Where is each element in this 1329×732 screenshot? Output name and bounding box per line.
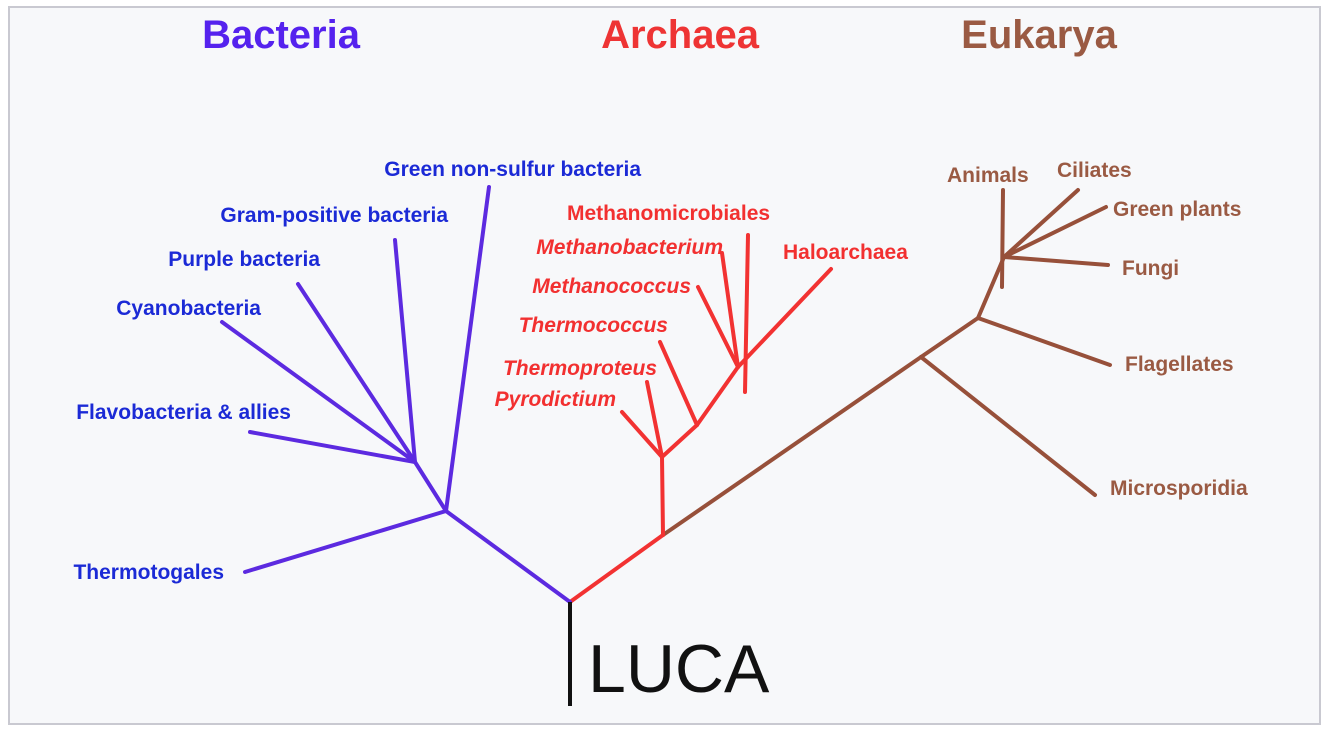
taxon-label-green-non-sulfur-bacteria: Green non-sulfur bacteria <box>384 158 641 181</box>
branch-haloarchaea <box>738 269 831 367</box>
branch-crenarchaeota-to-euryarchaeota <box>662 425 697 457</box>
taxon-label-microsporidia: Microsporidia <box>1110 477 1248 500</box>
phylogenetic-tree-figure: BacteriaArchaeaEukarya Green non-sulfur … <box>0 0 1329 732</box>
branch-flavobacteria <box>250 432 415 462</box>
taxon-label-methanomicrobiales: Methanomicrobiales <box>567 202 770 225</box>
root-layer: LUCA <box>570 602 770 707</box>
taxon-label-methanobacterium: Methanobacterium <box>536 236 723 259</box>
taxon-label-thermoproteus: Thermoproteus <box>503 357 657 380</box>
branch-thermococcus <box>660 342 697 425</box>
luca-label: LUCA <box>588 631 770 707</box>
branch-fungi <box>1004 257 1108 265</box>
domain-title-archaea: Archaea <box>601 13 760 57</box>
branch-methanomicrobiales <box>745 235 748 392</box>
branch-euryarchaeota-internal <box>697 367 738 425</box>
branch-animals <box>1002 190 1003 287</box>
branch-archaea-stem <box>662 457 663 535</box>
taxon-label-cyanobacteria: Cyanobacteria <box>116 297 261 320</box>
branch-purple-bacteria <box>298 284 415 462</box>
taxon-label-flavobacteria-allies: Flavobacteria & allies <box>76 401 291 424</box>
taxon-label-thermotogales: Thermotogales <box>73 561 224 584</box>
taxon-label-animals: Animals <box>947 164 1029 187</box>
taxon-label-thermococcus: Thermococcus <box>519 314 668 337</box>
taxon-label-flagellates: Flagellates <box>1125 353 1234 376</box>
branch-archaea-to-eukarya <box>663 357 921 535</box>
taxon-label-ciliates: Ciliates <box>1057 159 1132 182</box>
taxon-label-methanococcus: Methanococcus <box>532 275 691 298</box>
domain-titles-layer: BacteriaArchaeaEukarya <box>202 13 1118 57</box>
taxon-label-purple-bacteria: Purple bacteria <box>168 248 320 271</box>
taxon-label-fungi: Fungi <box>1122 257 1179 280</box>
branch-green-plants <box>1004 207 1106 257</box>
taxon-label-pyrodictium: Pyrodictium <box>495 388 616 411</box>
taxon-label-haloarchaea: Haloarchaea <box>783 241 908 264</box>
branch-green-non-sulfur <box>446 187 489 511</box>
branch-root-to-archaea <box>570 535 663 602</box>
branch-microsporidia <box>921 357 1095 495</box>
branch-cyanobacteria <box>222 322 415 462</box>
branch-flagellates <box>978 318 1110 365</box>
domain-title-eukarya: Eukarya <box>961 13 1117 57</box>
branch-thermotogales <box>245 511 446 572</box>
taxon-label-green-plants: Green plants <box>1113 198 1241 221</box>
branch-gram-positive <box>395 240 415 462</box>
branch-bacteria-trunk-to-fan <box>415 462 446 511</box>
domain-title-bacteria: Bacteria <box>202 13 361 57</box>
branch-ciliates <box>1004 190 1078 257</box>
taxon-label-gram-positive-bacteria: Gram-positive bacteria <box>220 204 448 227</box>
tree-canvas: BacteriaArchaeaEukarya Green non-sulfur … <box>0 0 1329 732</box>
branch-eukarya-internal-1 <box>921 318 978 357</box>
branch-root-to-bacteria-trunk <box>446 511 570 602</box>
